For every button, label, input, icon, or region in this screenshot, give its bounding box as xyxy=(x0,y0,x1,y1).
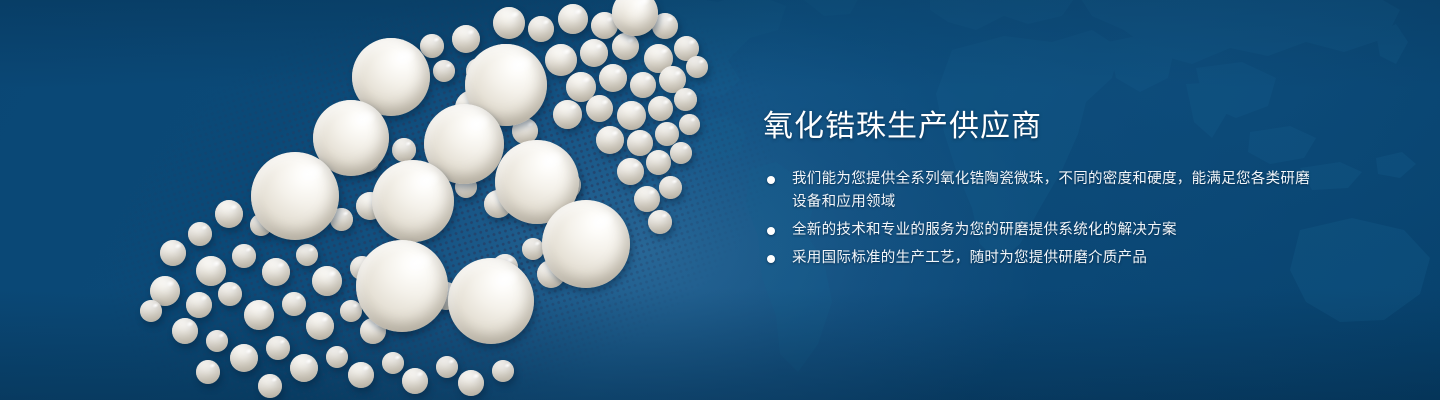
zirconia-bead-cluster-image xyxy=(0,0,760,400)
hero-banner: 氧化锆珠生产供应商 我们能为您提供全系列氧化锆陶瓷微珠，不同的密度和硬度，能满足… xyxy=(0,0,1440,400)
banner-copy: 氧化锆珠生产供应商 我们能为您提供全系列氧化锆陶瓷微珠，不同的密度和硬度，能满足… xyxy=(763,108,1323,275)
page-title: 氧化锆珠生产供应商 xyxy=(763,108,1323,146)
list-item-label: 全新的技术和专业的服务为您的研磨提供系统化的解决方案 xyxy=(792,222,1177,238)
list-item: 全新的技术和专业的服务为您的研磨提供系统化的解决方案 xyxy=(763,219,1323,242)
bullet-dot-icon xyxy=(767,255,775,263)
bullet-dot-icon xyxy=(767,227,775,235)
feature-list: 我们能为您提供全系列氧化锆陶瓷微珠，不同的密度和硬度，能满足您各类研磨设备和应用… xyxy=(763,168,1323,270)
list-item-label: 采用国际标准的生产工艺，随时为您提供研磨介质产品 xyxy=(792,250,1147,266)
list-item: 采用国际标准的生产工艺，随时为您提供研磨介质产品 xyxy=(763,247,1323,270)
list-item-label: 我们能为您提供全系列氧化锆陶瓷微珠，不同的密度和硬度，能满足您各类研磨设备和应用… xyxy=(792,171,1310,210)
bullet-dot-icon xyxy=(767,176,775,184)
list-item: 我们能为您提供全系列氧化锆陶瓷微珠，不同的密度和硬度，能满足您各类研磨设备和应用… xyxy=(763,168,1323,214)
